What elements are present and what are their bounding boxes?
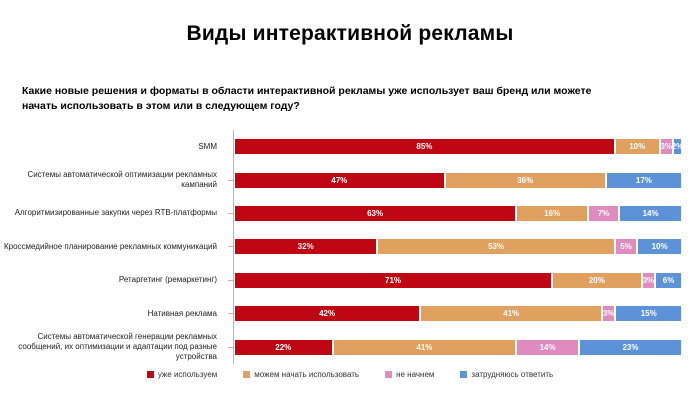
chart-subtitle: Какие новые решения и форматы в области … bbox=[22, 84, 602, 114]
bar-segment: 2% bbox=[673, 138, 682, 155]
stacked-bar: 22%41%14%23% bbox=[234, 339, 682, 356]
bar-segment: 14% bbox=[619, 205, 682, 222]
bar-value-label: 10% bbox=[629, 142, 645, 151]
bar-segment: 7% bbox=[588, 205, 619, 222]
bar-row: Системы автоматической генерации рекламн… bbox=[0, 330, 700, 363]
bar-value-label: 22% bbox=[275, 343, 291, 352]
bar-value-label: 23% bbox=[622, 343, 638, 352]
stacked-bar: 63%16%7%14% bbox=[234, 205, 682, 222]
bar-value-label: 3% bbox=[661, 142, 673, 151]
axis-tick bbox=[228, 347, 233, 348]
bar-value-label: 16% bbox=[544, 209, 560, 218]
bar-row: Нативная реклама42%41%3%15% bbox=[0, 297, 700, 330]
bar-value-label: 7% bbox=[598, 209, 610, 218]
legend-swatch-icon bbox=[385, 371, 392, 378]
legend-item[interactable]: не начнем bbox=[385, 370, 434, 379]
bar-segment: 41% bbox=[333, 339, 517, 356]
bar-value-label: 63% bbox=[367, 209, 383, 218]
category-label: Алгоритмизированные закупки через RTB-пл… bbox=[0, 208, 225, 218]
bar-value-label: 53% bbox=[488, 242, 504, 251]
bar-segment: 23% bbox=[579, 339, 682, 356]
legend-item[interactable]: можем начать использовать bbox=[243, 370, 359, 379]
bar-value-label: 3% bbox=[643, 276, 655, 285]
bar-value-label: 41% bbox=[416, 343, 432, 352]
category-label: Нативная реклама bbox=[0, 309, 225, 319]
bar-segment: 20% bbox=[552, 272, 642, 289]
stacked-bar: 71%20%3%6% bbox=[234, 272, 682, 289]
legend-item[interactable]: затрудняюсь ответить bbox=[460, 370, 553, 379]
axis-tick bbox=[228, 246, 233, 247]
bar-segment: 32% bbox=[234, 238, 377, 255]
legend-label: затрудняюсь ответить bbox=[471, 370, 553, 379]
bar-segment: 6% bbox=[655, 272, 682, 289]
bar-segment: 42% bbox=[234, 305, 420, 322]
bar-value-label: 10% bbox=[652, 242, 668, 251]
bar-row: Ретаргетинг (ремаркетинг)71%20%3%6% bbox=[0, 264, 700, 297]
bar-row: SMM85%10%3%2% bbox=[0, 130, 700, 163]
bar-value-label: 3% bbox=[603, 309, 615, 318]
bar-segment: 14% bbox=[516, 339, 579, 356]
stacked-bar: 32%53%5%10% bbox=[234, 238, 682, 255]
bar-value-label: 32% bbox=[298, 242, 314, 251]
chart-legend: уже используемможем начать использоватьн… bbox=[0, 370, 700, 379]
bar-value-label: 5% bbox=[620, 242, 632, 251]
bar-value-label: 47% bbox=[331, 176, 347, 185]
axis-tick bbox=[228, 180, 233, 181]
legend-label: уже используем bbox=[158, 370, 217, 379]
bar-segment: 17% bbox=[606, 172, 682, 189]
bar-segment: 47% bbox=[234, 172, 445, 189]
bar-rows-container: SMM85%10%3%2%Системы автоматической опти… bbox=[0, 130, 700, 364]
stacked-bar: 47%36%17% bbox=[234, 172, 682, 189]
legend-swatch-icon bbox=[243, 371, 250, 378]
bar-segment: 85% bbox=[234, 138, 615, 155]
category-label: SMM bbox=[0, 142, 225, 152]
category-label: Системы автоматической оптимизации рекла… bbox=[0, 170, 225, 190]
legend-swatch-icon bbox=[460, 371, 467, 378]
bar-value-label: 42% bbox=[319, 309, 335, 318]
bar-value-label: 20% bbox=[589, 276, 605, 285]
legend-swatch-icon bbox=[147, 371, 154, 378]
axis-tick bbox=[228, 280, 233, 281]
bar-value-label: 6% bbox=[663, 276, 675, 285]
bar-value-label: 71% bbox=[385, 276, 401, 285]
bar-segment: 3% bbox=[602, 305, 615, 322]
bar-value-label: 41% bbox=[503, 309, 519, 318]
bar-value-label: 14% bbox=[643, 209, 659, 218]
bar-segment: 36% bbox=[445, 172, 606, 189]
bar-segment: 3% bbox=[642, 272, 655, 289]
bar-segment: 5% bbox=[615, 238, 637, 255]
bar-row: Кроссмедийное планирование рекламных ком… bbox=[0, 230, 700, 263]
chart-plot-area: SMM85%10%3%2%Системы автоматической опти… bbox=[0, 130, 700, 364]
stacked-bar: 85%10%3%2% bbox=[234, 138, 682, 155]
bar-segment: 53% bbox=[377, 238, 614, 255]
page-title: Виды интерактивной рекламы bbox=[0, 0, 700, 48]
bar-segment: 15% bbox=[615, 305, 682, 322]
bar-value-label: 2% bbox=[672, 142, 684, 151]
bar-row: Системы автоматической оптимизации рекла… bbox=[0, 163, 700, 196]
legend-label: можем начать использовать bbox=[254, 370, 359, 379]
bar-segment: 63% bbox=[234, 205, 516, 222]
legend-label: не начнем bbox=[396, 370, 434, 379]
bar-value-label: 85% bbox=[416, 142, 432, 151]
bar-value-label: 14% bbox=[540, 343, 556, 352]
bar-segment: 10% bbox=[637, 238, 682, 255]
bar-segment: 22% bbox=[234, 339, 333, 356]
bar-segment: 10% bbox=[615, 138, 660, 155]
axis-tick bbox=[228, 213, 233, 214]
bar-value-label: 17% bbox=[636, 176, 652, 185]
bar-row: Алгоритмизированные закупки через RTB-пл… bbox=[0, 197, 700, 230]
bar-segment: 41% bbox=[420, 305, 602, 322]
bar-value-label: 15% bbox=[641, 309, 657, 318]
category-label: Кроссмедийное планирование рекламных ком… bbox=[0, 242, 225, 252]
stacked-bar: 42%41%3%15% bbox=[234, 305, 682, 322]
axis-tick bbox=[228, 313, 233, 314]
category-label: Системы автоматической генерации рекламн… bbox=[0, 332, 225, 362]
legend-item[interactable]: уже используем bbox=[147, 370, 217, 379]
category-label: Ретаргетинг (ремаркетинг) bbox=[0, 275, 225, 285]
bar-segment: 16% bbox=[516, 205, 588, 222]
bar-segment: 71% bbox=[234, 272, 552, 289]
bar-value-label: 36% bbox=[517, 176, 533, 185]
